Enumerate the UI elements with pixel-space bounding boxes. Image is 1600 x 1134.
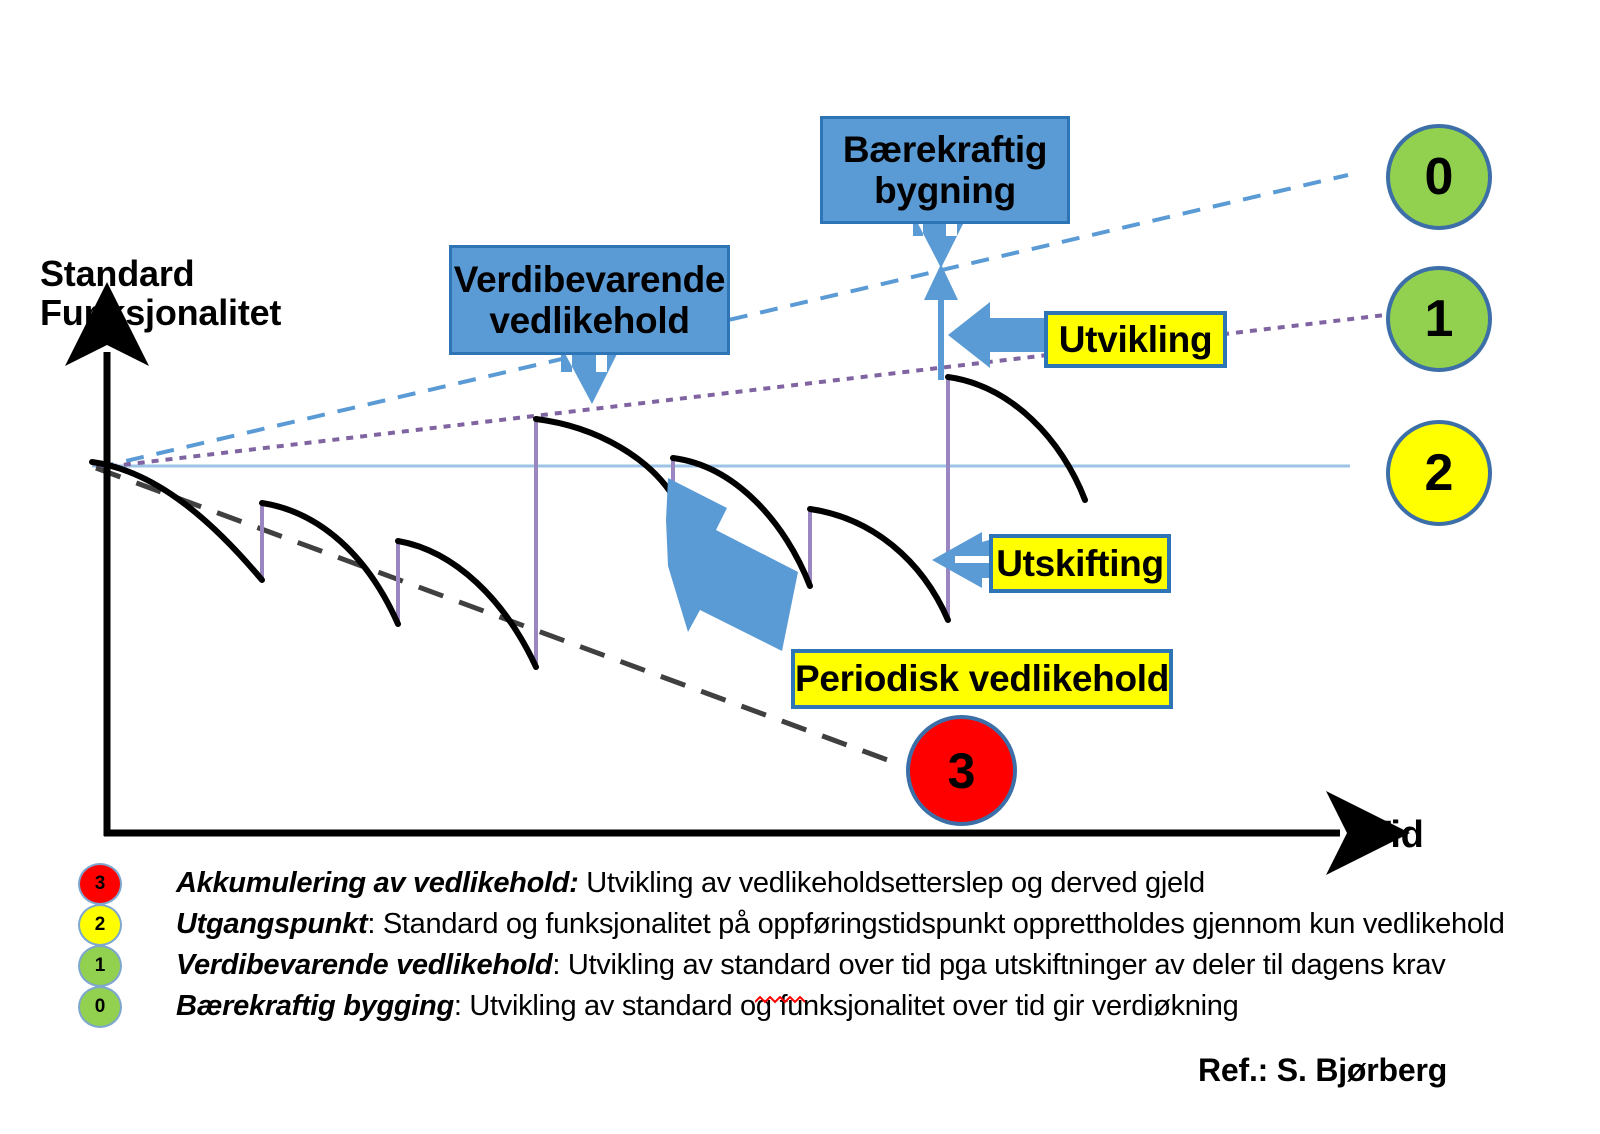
y-axis-label: Standard Funksjonalitet xyxy=(40,255,281,333)
callout-baerekraftig-bygning[interactable]: Bærekraftig bygning xyxy=(820,116,1070,224)
legend-desc-1: : Utvikling av standard over tid pga uts… xyxy=(552,949,1445,981)
legend-label-2: Utgangspunkt: Standard og funksjonalitet… xyxy=(176,908,1505,941)
score-circle-0[interactable]: 0 xyxy=(1386,124,1492,230)
maintenance-risers xyxy=(262,377,948,667)
diagram-canvas: Standard Funksjonalitet Tid Bærekraftig … xyxy=(0,0,1600,1134)
legend-label-3: Akkumulering av vedlikehold: Utvikling a… xyxy=(176,867,1205,900)
legend-row: 1 Verdibevarende vedlikehold: Utvikling … xyxy=(78,945,1558,986)
legend-dot-3: 3 xyxy=(78,863,122,905)
legend-row: 3 Akkumulering av vedlikehold: Utvikling… xyxy=(78,863,1558,904)
score-circle-2[interactable]: 2 xyxy=(1386,420,1492,526)
legend-dot-0: 0 xyxy=(78,986,122,1028)
score-circle-3[interactable]: 3 xyxy=(906,715,1017,826)
callout-utskifting[interactable]: Utskifting xyxy=(989,534,1171,593)
arrow-left-utskifting xyxy=(932,532,989,588)
legend-label-1: Verdibevarende vedlikehold: Utvikling av… xyxy=(176,949,1445,982)
legend-row: 2 Utgangspunkt: Standard og funksjonalit… xyxy=(78,904,1558,945)
callout-utvikling[interactable]: Utvikling xyxy=(1044,311,1227,368)
score-circle-1[interactable]: 1 xyxy=(1386,266,1492,372)
legend-term-0: Bærekraftig bygging xyxy=(176,990,454,1022)
reference-note: Ref.: S. Bjørberg xyxy=(1198,1052,1447,1089)
callout-verdibevarende-vedlikehold[interactable]: Verdibevarende vedlikehold xyxy=(449,245,730,355)
legend-label-0: Bærekraftig bygging: Utvikling av standa… xyxy=(176,990,1238,1023)
legend-desc-2: : Standard og funksjonalitet på oppførin… xyxy=(367,908,1504,940)
callout-periodisk-vedlikehold[interactable]: Periodisk vedlikehold xyxy=(791,649,1173,709)
legend-term-3: Akkumulering av vedlikehold: xyxy=(176,867,579,899)
legend-term-2: Utgangspunkt xyxy=(176,908,367,940)
legend-dot-1: 1 xyxy=(78,945,122,987)
legend: 3 Akkumulering av vedlikehold: Utvikling… xyxy=(78,863,1558,1027)
arrow-up-utvikling xyxy=(924,264,958,380)
arrow-diagonal-periodisk xyxy=(666,478,798,651)
x-axis-label: Tid xyxy=(1368,815,1424,856)
legend-desc-0: : Utvikling av standard og funksjonalite… xyxy=(454,990,1239,1022)
legend-dot-2: 2 xyxy=(78,904,122,946)
legend-desc-3: Utvikling av vedlikeholdsetterslep og de… xyxy=(579,867,1205,899)
legend-term-1: Verdibevarende vedlikehold xyxy=(176,949,552,981)
legend-row: 0 Bærekraftig bygging: Utvikling av stan… xyxy=(78,986,1558,1027)
